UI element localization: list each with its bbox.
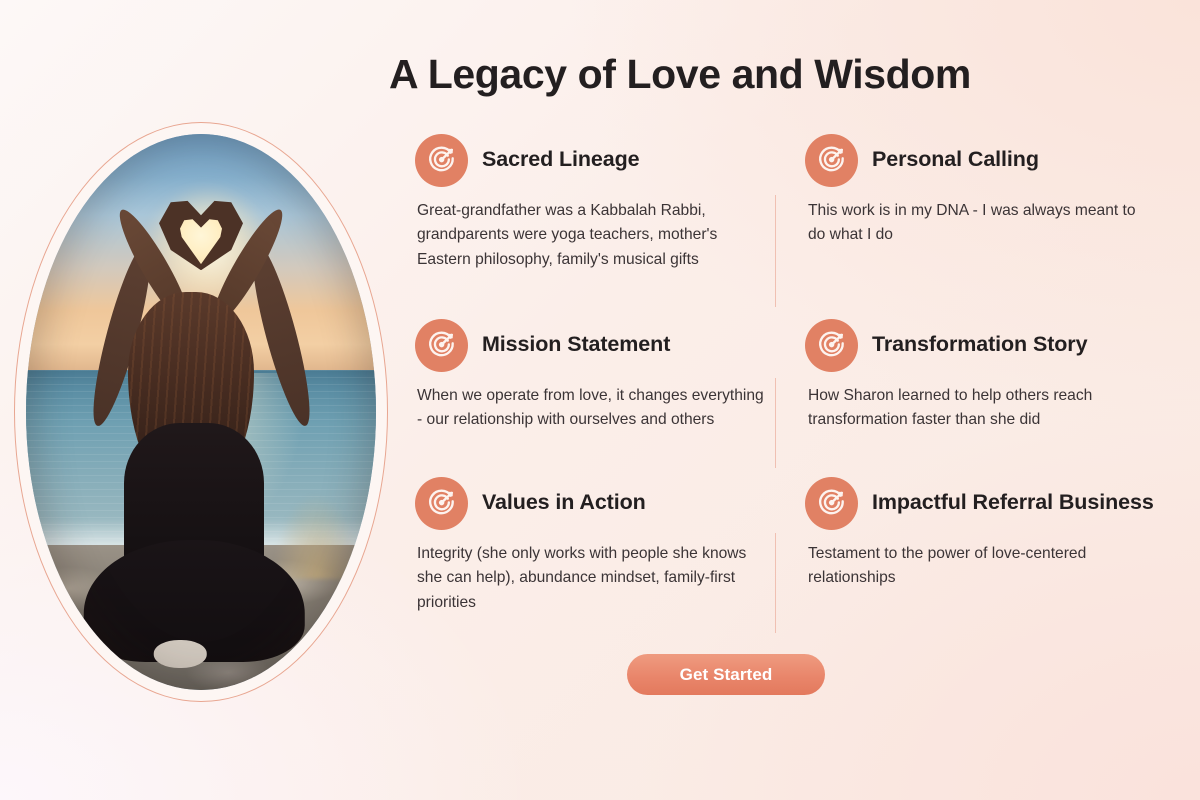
feature-body: Testament to the power of love-centered … [808,542,1155,591]
feature-title: Mission Statement [482,332,670,357]
column-divider [775,533,776,633]
feature-header: Transformation Story [805,318,1155,372]
features-grid: Sacred Lineage Great-grandfather was a K… [415,133,1170,633]
woman-silhouette [26,134,376,690]
feature-card[interactable]: Mission Statement When we operate from l… [415,318,765,433]
feature-header: Impactful Referral Business [805,476,1155,530]
target-dart-icon [415,477,468,530]
feature-title: Impactful Referral Business [872,490,1154,515]
feature-card[interactable]: Values in Action Integrity (she only wor… [415,476,765,615]
target-dart-icon [805,134,858,187]
feature-header: Personal Calling [805,133,1155,187]
target-dart-icon [805,319,858,372]
feature-body: Integrity (she only works with people sh… [417,542,765,615]
feature-body: This work is in my DNA - I was always me… [808,199,1155,248]
page-title: A Legacy of Love and Wisdom [375,52,985,97]
feature-card[interactable]: Transformation Story How Sharon learned … [805,318,1155,433]
foot [154,640,207,668]
get-started-button[interactable]: Get Started [627,654,825,695]
feature-header: Mission Statement [415,318,765,372]
feature-header: Values in Action [415,476,765,530]
feature-body: How Sharon learned to help others reach … [808,384,1155,433]
feature-header: Sacred Lineage [415,133,765,187]
hero-photo-frame [14,122,388,702]
feature-card[interactable]: Sacred Lineage Great-grandfather was a K… [415,133,765,272]
feature-title: Sacred Lineage [482,147,640,172]
feature-body: Great-grandfather was a Kabbalah Rabbi, … [417,199,765,272]
hero-photo [26,134,376,690]
feature-card[interactable]: Impactful Referral Business Testament to… [805,476,1155,591]
column-divider [775,378,776,468]
feature-body: When we operate from love, it changes ev… [417,384,765,433]
target-dart-icon [415,134,468,187]
target-dart-icon [415,319,468,372]
feature-title: Values in Action [482,490,646,515]
feature-title: Transformation Story [872,332,1087,357]
infographic-canvas: A Legacy of Love and Wisdom [0,0,1200,800]
column-divider [775,195,776,307]
target-dart-icon [805,477,858,530]
feature-title: Personal Calling [872,147,1039,172]
feature-card[interactable]: Personal Calling This work is in my DNA … [805,133,1155,248]
